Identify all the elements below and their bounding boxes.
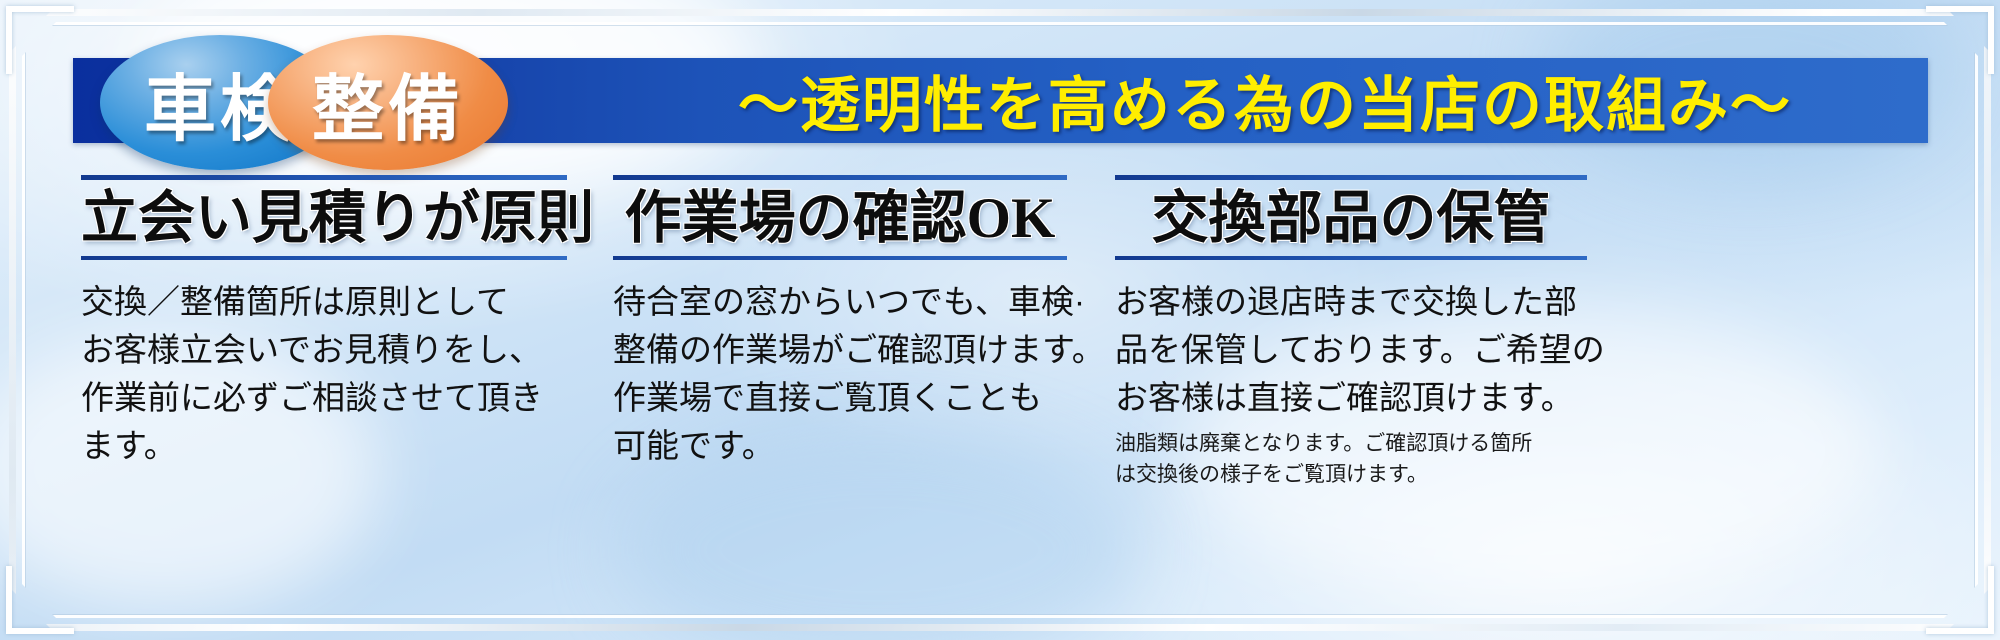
column-body: 待合室の窓からいつでも、車検· 整備の作業場がご確認頂けます。 作業場で直接ご覧… bbox=[613, 278, 1067, 470]
body-line: お客様立会いでお見積りをし、 bbox=[81, 326, 567, 374]
column-footnote: 油脂類は廃棄となります。ご確認頂ける箇所 は交換後の様子をご覧頂けます。 bbox=[1115, 428, 1587, 490]
body-line: 可能です。 bbox=[613, 422, 1067, 470]
column-body: お客様の退店時まで交換した部 品を保管しております。ご希望の お客様は直接ご確認… bbox=[1115, 278, 1587, 422]
body-line: お客様は直接ご確認頂けます。 bbox=[1115, 374, 1587, 422]
column-heading: 立会い見積りが原則 bbox=[81, 180, 567, 256]
frame-corner-top-right-icon bbox=[1926, 6, 1994, 74]
frame-corner-bottom-left-icon bbox=[6, 566, 74, 634]
body-line: 作業場で直接ご覧頂くことも bbox=[613, 374, 1067, 422]
body-line: 待合室の窓からいつでも、車検· bbox=[613, 278, 1067, 326]
frame-corner-bottom-right-icon bbox=[1926, 566, 1994, 634]
feature-column-hokan: 交換部品の保管 お客様の退店時まで交換した部 品を保管しております。ご希望の お… bbox=[1073, 175, 1593, 605]
header-title: 〜透明性を高める為の当店の取組み〜 bbox=[600, 58, 1930, 143]
body-line: お客様の退店時まで交換した部 bbox=[1115, 278, 1587, 326]
column-rule-bottom bbox=[613, 256, 1067, 260]
column-body: 交換／整備箇所は原則として お客様立会いでお見積りをし、 作業前に必ずご相談させ… bbox=[81, 278, 567, 470]
body-line: 交換／整備箇所は原則として bbox=[81, 278, 567, 326]
body-line: 品を保管しております。ご希望の bbox=[1115, 326, 1587, 374]
footnote-line: 油脂類は廃棄となります。ご確認頂ける箇所 bbox=[1115, 428, 1587, 459]
body-line: 作業前に必ずご相談させて頂き bbox=[81, 374, 567, 422]
body-line: 整備の作業場がご確認頂けます。 bbox=[613, 326, 1067, 374]
badge-seibi: 整備 bbox=[268, 35, 508, 170]
column-rule-bottom bbox=[1115, 256, 1587, 260]
feature-column-sagyouba: 作業場の確認OK 待合室の窓からいつでも、車検· 整備の作業場がご確認頂けます。… bbox=[573, 175, 1073, 605]
column-heading: 作業場の確認OK bbox=[613, 180, 1067, 256]
promo-banner: 車検 整備 〜透明性を高める為の当店の取組み〜 立会い見積りが原則 交換／整備箇… bbox=[0, 0, 2000, 640]
frame-corner-top-left-icon bbox=[6, 6, 74, 74]
column-heading: 交換部品の保管 bbox=[1115, 180, 1587, 256]
feature-column-tachiai: 立会い見積りが原則 交換／整備箇所は原則として お客様立会いでお見積りをし、 作… bbox=[73, 175, 573, 605]
column-rule-bottom bbox=[81, 256, 567, 260]
footnote-line: は交換後の様子をご覧頂けます。 bbox=[1115, 459, 1587, 490]
feature-columns: 立会い見積りが原則 交換／整備箇所は原則として お客様立会いでお見積りをし、 作… bbox=[73, 175, 1928, 605]
body-line: ます。 bbox=[81, 422, 567, 470]
